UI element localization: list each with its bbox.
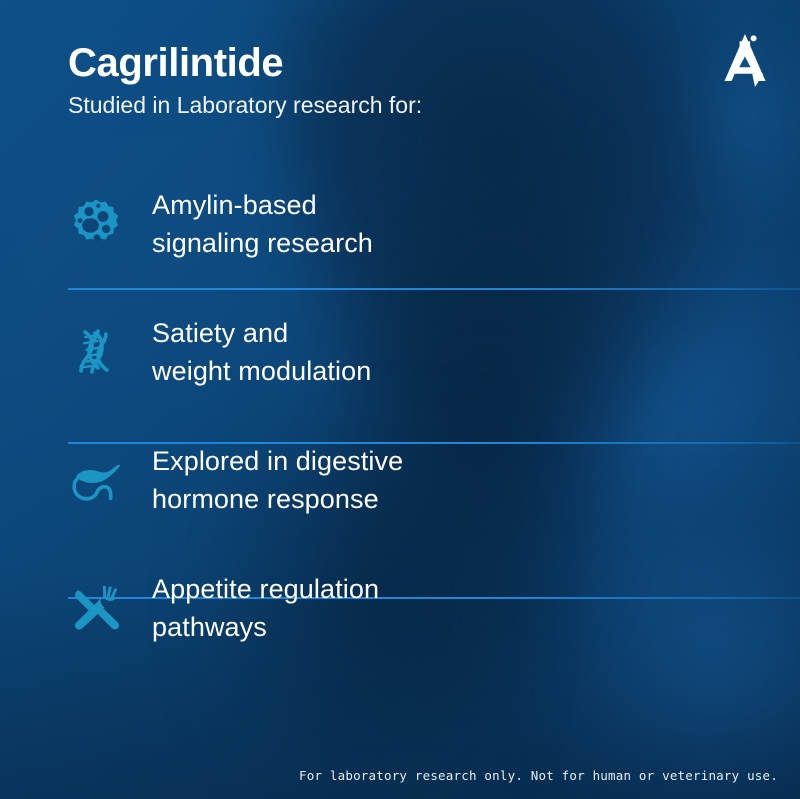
page-title: Cagrilintide	[68, 40, 422, 86]
list-item-text: Amylin-based signaling research	[144, 186, 373, 263]
list-item: Satiety and weight modulation	[0, 288, 800, 416]
header: Cagrilintide Studied in Laboratory resea…	[68, 40, 422, 119]
page-subtitle: Studied in Laboratory research for:	[68, 92, 422, 119]
footer-disclaimer: For laboratory research only. Not for hu…	[299, 768, 778, 783]
list-item: Amylin-based signaling research	[0, 160, 800, 288]
cell-molecule-icon	[68, 196, 144, 252]
lab-flask-triangle-logo	[712, 26, 778, 92]
list-item-text: Explored in digestive hormone response	[144, 442, 403, 519]
list-item-line2: hormone response	[152, 480, 403, 518]
list-item: Explored in digestive hormone response	[0, 416, 800, 544]
list-item-line2: pathways	[152, 608, 379, 646]
promo-card: Cagrilintide Studied in Laboratory resea…	[0, 0, 800, 799]
list-item-line2: signaling research	[152, 224, 373, 262]
list-item-line2: weight modulation	[152, 352, 371, 390]
benefits-list: Amylin-based signaling research	[0, 160, 800, 672]
list-item-line1: Appetite regulation	[152, 574, 379, 604]
list-item-text: Satiety and weight modulation	[144, 314, 371, 391]
list-item-line1: Explored in digestive	[152, 446, 403, 476]
dna-helix-icon	[68, 324, 144, 380]
list-item-text: Appetite regulation pathways	[144, 570, 379, 647]
fork-knife-icon	[68, 580, 144, 636]
list-item-line1: Amylin-based	[152, 190, 317, 220]
list-item: Appetite regulation pathways	[0, 544, 800, 672]
list-item-line1: Satiety and	[152, 318, 288, 348]
pancreas-icon	[68, 452, 144, 508]
